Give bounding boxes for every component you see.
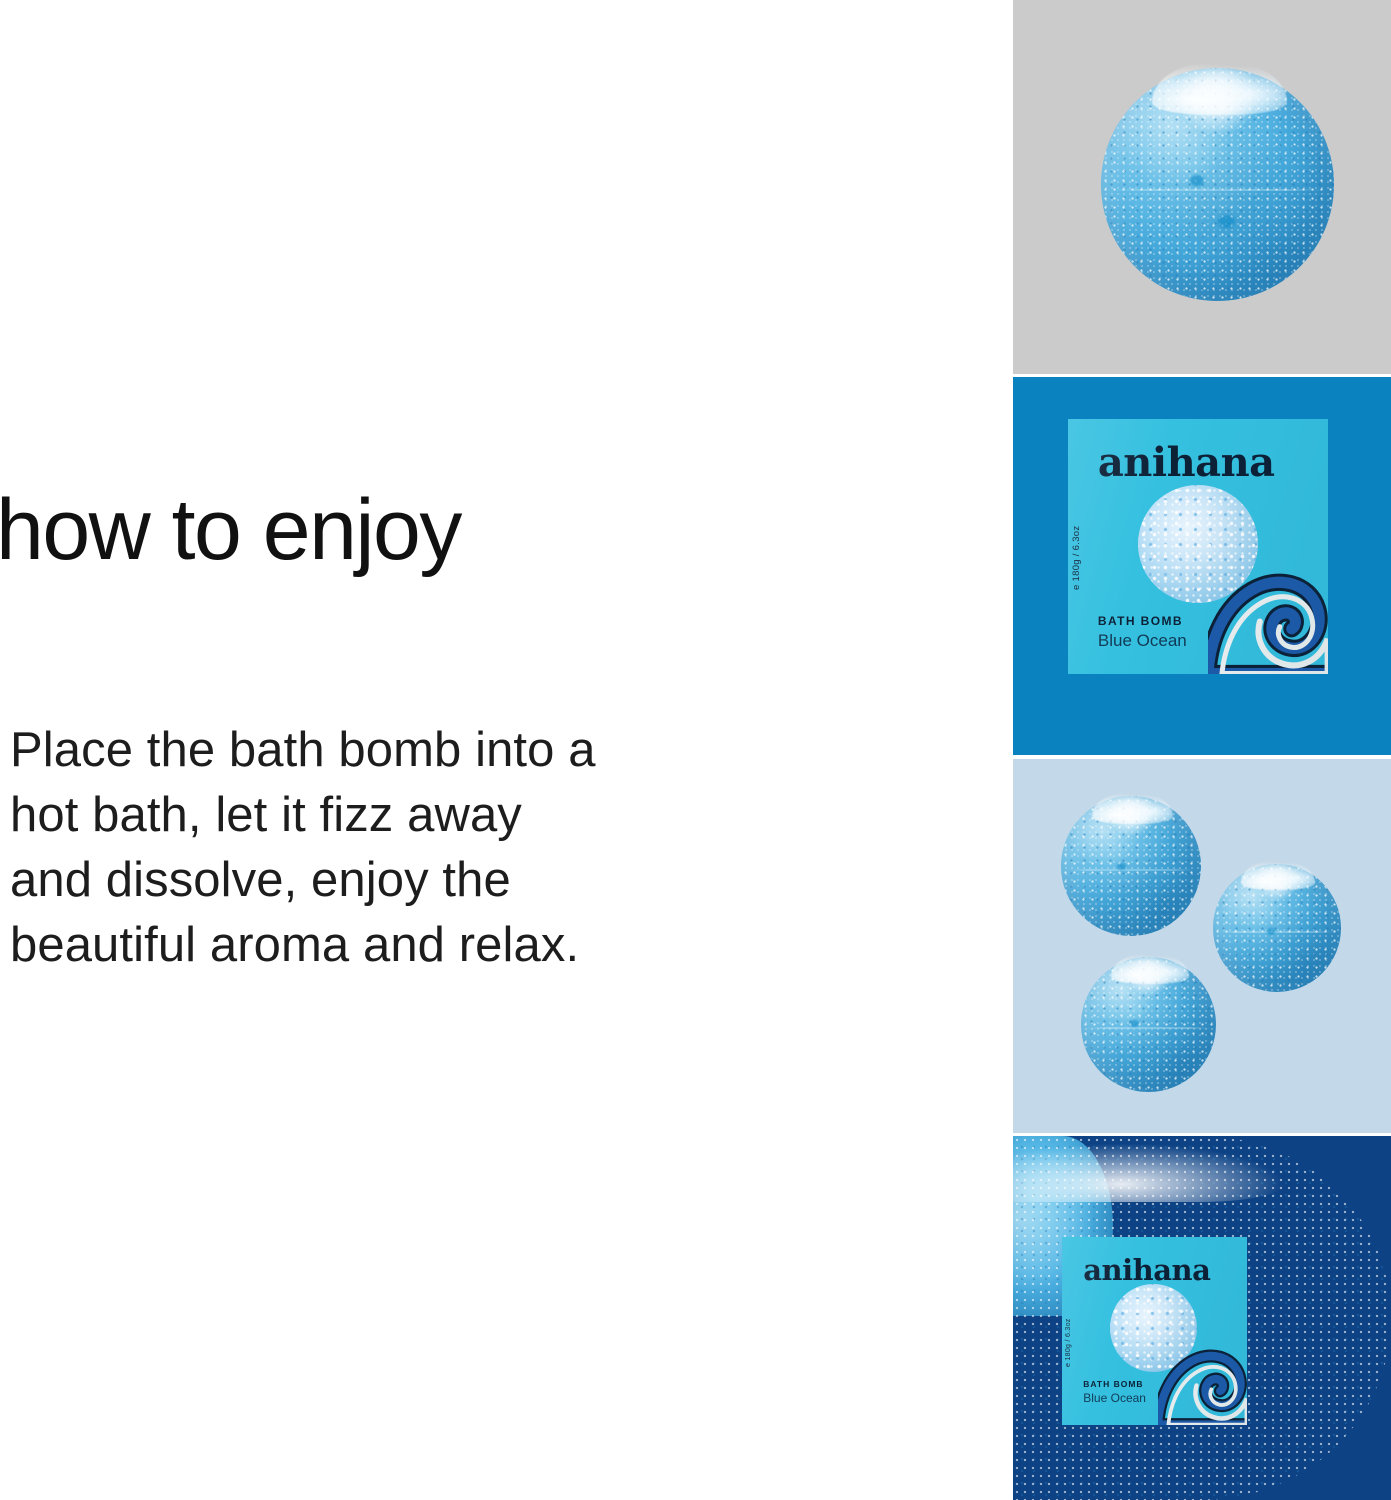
instructions-line: and dissolve, enjoy the <box>10 848 840 913</box>
panel-three-bath-bombs <box>1013 759 1391 1133</box>
panel-hero-single-bath-bomb <box>1013 0 1391 374</box>
bath-bomb-sphere <box>1061 796 1201 936</box>
bath-bomb-fleck <box>1190 175 1204 186</box>
net-weight-label: e 180g / 6.3oz <box>1065 1318 1072 1367</box>
bath-bomb-fleck <box>1218 215 1235 228</box>
product-box: anihana e 180g / 6.3oz BATH BOMB Blue Oc… <box>1062 1237 1247 1425</box>
product-box: anihana e 180g / 6.3oz BATH BOMB Blue Oc… <box>1068 419 1328 674</box>
brand-logo: anihana <box>1098 443 1275 483</box>
product-scent-label: Blue Ocean <box>1098 631 1187 651</box>
bath-bomb-sphere <box>1213 864 1341 992</box>
panel-box-with-bath-bomb: anihana e 180g / 6.3oz BATH BOMB Blue Oc… <box>1013 1136 1391 1500</box>
page-title: how to enjoy <box>0 487 956 573</box>
wave-swirl-icon <box>1208 541 1328 674</box>
product-listing-image: how to enjoy Place the bath bomb into a … <box>0 0 1391 1500</box>
brand-logo: anihana <box>1083 1256 1210 1285</box>
bath-bomb-sphere <box>1101 68 1334 301</box>
bath-bomb-seam <box>1106 189 1330 191</box>
product-type-label: BATH BOMB <box>1098 614 1183 628</box>
instructions-line: Place the bath bomb into a <box>10 718 840 783</box>
wave-swirl-icon <box>1158 1325 1247 1425</box>
copy-column: how to enjoy Place the bath bomb into a … <box>0 0 1013 1500</box>
instructions-line: beautiful aroma and relax. <box>10 913 840 978</box>
net-weight-label: e 180g / 6.3oz <box>1071 525 1082 589</box>
panel-product-box-front: anihana e 180g / 6.3oz BATH BOMB Blue Oc… <box>1013 377 1391 755</box>
product-image-strip: anihana e 180g / 6.3oz BATH BOMB Blue Oc… <box>1013 0 1391 1500</box>
bath-bomb-sphere <box>1081 957 1216 1092</box>
bath-bomb-seam <box>1216 931 1339 933</box>
bath-bomb-seam <box>1084 1027 1214 1029</box>
bath-bomb-seam <box>1064 869 1198 871</box>
product-type-label: BATH BOMB <box>1083 1379 1143 1389</box>
product-scent-label: Blue Ocean <box>1083 1391 1146 1405</box>
instructions-paragraph: Place the bath bomb into a hot bath, let… <box>10 718 840 979</box>
instructions-line: hot bath, let it fizz away <box>10 783 840 848</box>
bath-bomb-fleck <box>1267 928 1275 935</box>
